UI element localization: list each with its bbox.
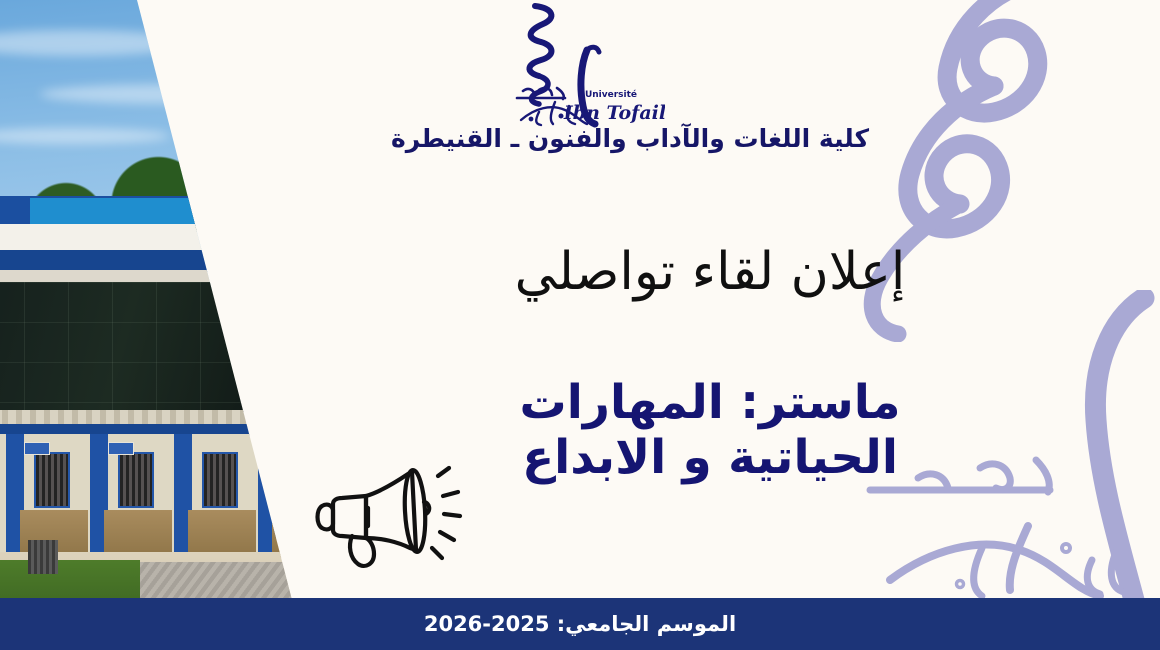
- trash-bin: [28, 540, 58, 574]
- door-plaque: [24, 442, 50, 455]
- academic-year-label: الموسم الجامعي: 2025-2026: [424, 612, 736, 636]
- flagpole: [222, 122, 225, 208]
- university-logo: Université Ibn Tofail: [495, 2, 665, 128]
- glass-facade: [0, 282, 400, 412]
- roof-band-light: [30, 198, 245, 226]
- watermark-alef-stroke-icon: [1048, 290, 1160, 620]
- canopy-band: [0, 250, 400, 272]
- window: [202, 452, 238, 508]
- window: [118, 452, 154, 508]
- logo-latin-line2: Ibn Tofail: [563, 102, 665, 124]
- cloud: [0, 30, 190, 56]
- faculty-name: كلية اللغات والآداب والفنون ـ القنيطرة: [330, 124, 930, 153]
- poster-canvas: Université Ibn Tofail كلية اللغات والآدا…: [0, 0, 1160, 650]
- glass-mullions: [0, 282, 400, 412]
- announcement-title: إعلان لقاء تواصلي: [420, 243, 1000, 301]
- brick-base: [104, 510, 172, 558]
- grass: [0, 560, 140, 600]
- brick-base: [188, 510, 256, 558]
- program-title: ماستر: المهارات الحياتية و الابداع: [430, 375, 990, 486]
- door-plaque: [108, 442, 134, 455]
- cloud: [40, 84, 320, 104]
- megaphone-icon: [312, 452, 472, 572]
- roof-white-band: [0, 224, 400, 252]
- logo-latin-line1: Université: [585, 89, 637, 100]
- footer-bar: الموسم الجامعي: 2025-2026: [0, 598, 1160, 650]
- window: [34, 452, 70, 508]
- moroccan-flag: [186, 84, 244, 140]
